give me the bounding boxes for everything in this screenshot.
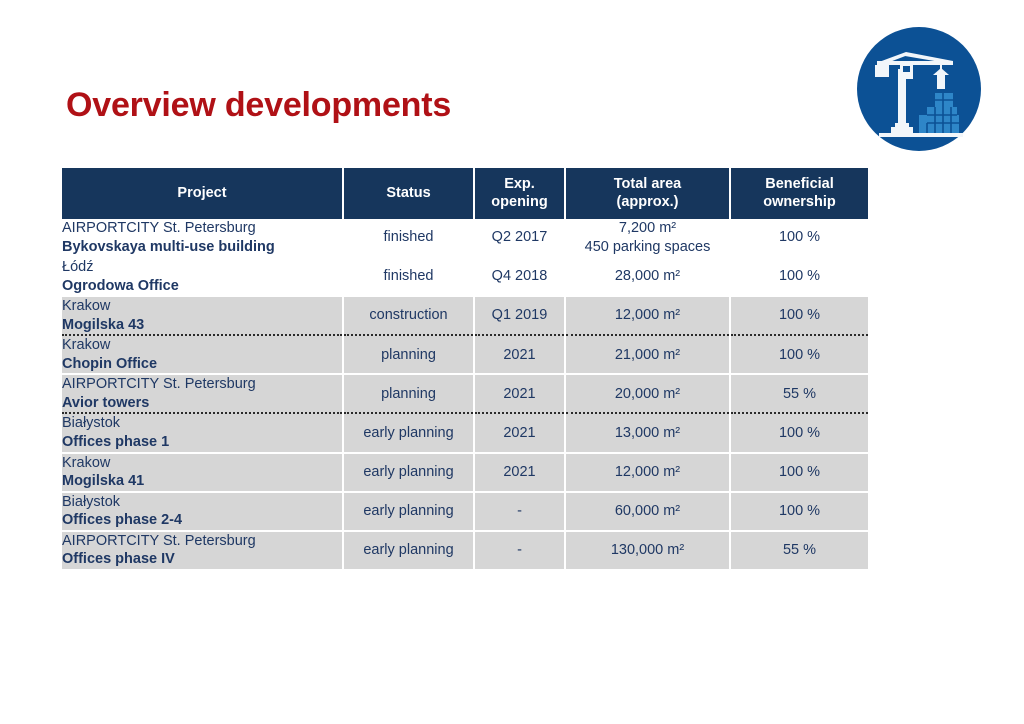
table-row[interactable]: KrakowMogilska 41early planning202112,00…: [62, 453, 868, 492]
table-row[interactable]: BiałystokOffices phase 1early planning20…: [62, 413, 868, 452]
cell-project: KrakowChopin Office: [62, 335, 343, 374]
cell-beneficial-ownership: 100 %: [730, 453, 868, 492]
cell-beneficial-ownership: 100 %: [730, 335, 868, 374]
cell-total-area: 130,000 m²: [565, 531, 730, 569]
column-header-total-area-line2: (approx.): [616, 194, 678, 210]
project-location: Białystok: [62, 414, 342, 433]
developments-table: Project Status Exp. opening Total area (…: [62, 168, 868, 569]
project-name: Offices phase 1: [62, 433, 342, 452]
column-header-exp-opening[interactable]: Exp. opening: [474, 168, 565, 219]
cell-status: finished: [343, 257, 474, 296]
table-row[interactable]: AIRPORTCITY St. PetersburgOffices phase …: [62, 531, 868, 569]
cell-project: KrakowMogilska 43: [62, 296, 343, 335]
cell-exp-opening: -: [474, 492, 565, 531]
cell-project: AIRPORTCITY St. PetersburgBykovskaya mul…: [62, 219, 343, 257]
project-name: Mogilska 41: [62, 472, 342, 491]
project-name: Mogilska 43: [62, 316, 342, 335]
cell-status: construction: [343, 296, 474, 335]
page-title: Overview developments: [66, 86, 451, 125]
cell-project: KrakowMogilska 41: [62, 453, 343, 492]
cell-beneficial-ownership: 100 %: [730, 413, 868, 452]
table-row[interactable]: KrakowMogilska 43constructionQ1 201912,0…: [62, 296, 868, 335]
cell-exp-opening: 2021: [474, 453, 565, 492]
column-header-beneficial-ownership-line2: ownership: [763, 194, 836, 210]
project-name: Avior towers: [62, 394, 342, 413]
project-location: Krakow: [62, 454, 342, 473]
cell-total-area: 28,000 m²: [565, 257, 730, 296]
cell-total-area: 13,000 m²: [565, 413, 730, 452]
project-location: AIRPORTCITY St. Petersburg: [62, 375, 342, 394]
total-area-primary: 60,000 m²: [566, 502, 729, 521]
project-name: Offices phase IV: [62, 550, 342, 569]
column-header-beneficial-ownership[interactable]: Beneficial ownership: [730, 168, 868, 219]
table-row[interactable]: KrakowChopin Officeplanning202121,000 m²…: [62, 335, 868, 374]
crane-icon: [857, 27, 981, 151]
project-location: AIRPORTCITY St. Petersburg: [62, 219, 342, 238]
project-name: Bykovskaya multi-use building: [62, 238, 342, 257]
project-location: Krakow: [62, 297, 342, 316]
construction-crane-logo: [857, 27, 981, 151]
project-location: Krakow: [62, 336, 342, 355]
cell-exp-opening: 2021: [474, 413, 565, 452]
cell-beneficial-ownership: 55 %: [730, 531, 868, 569]
cell-status: early planning: [343, 492, 474, 531]
column-header-total-area-line1: Total area: [614, 176, 681, 192]
cell-total-area: 20,000 m²: [565, 374, 730, 413]
cell-project: AIRPORTCITY St. PetersburgOffices phase …: [62, 531, 343, 569]
cell-status: planning: [343, 335, 474, 374]
project-location: Białystok: [62, 493, 342, 512]
cell-project: AIRPORTCITY St. PetersburgAvior towers: [62, 374, 343, 413]
project-location: Łódź: [62, 258, 342, 277]
cell-total-area: 12,000 m²: [565, 453, 730, 492]
table-row[interactable]: AIRPORTCITY St. PetersburgAvior towerspl…: [62, 374, 868, 413]
project-name: Ogrodowa Office: [62, 277, 342, 296]
cell-beneficial-ownership: 100 %: [730, 492, 868, 531]
cell-exp-opening: Q1 2019: [474, 296, 565, 335]
cell-total-area: 12,000 m²: [565, 296, 730, 335]
total-area-primary: 130,000 m²: [566, 541, 729, 560]
table-header: Project Status Exp. opening Total area (…: [62, 168, 868, 219]
cell-beneficial-ownership: 100 %: [730, 257, 868, 296]
project-location: AIRPORTCITY St. Petersburg: [62, 532, 342, 551]
cell-project: BiałystokOffices phase 1: [62, 413, 343, 452]
project-name: Offices phase 2-4: [62, 511, 342, 530]
total-area-primary: 20,000 m²: [566, 385, 729, 404]
cell-exp-opening: 2021: [474, 335, 565, 374]
table-row[interactable]: BiałystokOffices phase 2-4early planning…: [62, 492, 868, 531]
table-body: AIRPORTCITY St. PetersburgBykovskaya mul…: [62, 219, 868, 569]
total-area-primary: 28,000 m²: [566, 267, 729, 286]
cell-status: planning: [343, 374, 474, 413]
column-header-status[interactable]: Status: [343, 168, 474, 219]
cell-beneficial-ownership: 100 %: [730, 219, 868, 257]
column-header-total-area[interactable]: Total area (approx.): [565, 168, 730, 219]
cell-status: early planning: [343, 453, 474, 492]
table-row[interactable]: AIRPORTCITY St. PetersburgBykovskaya mul…: [62, 219, 868, 257]
column-header-exp-opening-line2: opening: [491, 194, 547, 210]
total-area-primary: 21,000 m²: [566, 346, 729, 365]
cell-exp-opening: -: [474, 531, 565, 569]
cell-beneficial-ownership: 55 %: [730, 374, 868, 413]
cell-status: early planning: [343, 413, 474, 452]
cell-project: ŁódźOgrodowa Office: [62, 257, 343, 296]
total-area-primary: 12,000 m²: [566, 306, 729, 325]
table-row[interactable]: ŁódźOgrodowa OfficefinishedQ4 201828,000…: [62, 257, 868, 296]
cell-exp-opening: Q4 2018: [474, 257, 565, 296]
cell-project: BiałystokOffices phase 2-4: [62, 492, 343, 531]
cell-exp-opening: 2021: [474, 374, 565, 413]
cell-total-area: 7,200 m²450 parking spaces: [565, 219, 730, 257]
total-area-secondary: 450 parking spaces: [566, 238, 729, 257]
cell-status: early planning: [343, 531, 474, 569]
project-name: Chopin Office: [62, 355, 342, 374]
column-header-project[interactable]: Project: [62, 168, 343, 219]
total-area-primary: 7,200 m²: [566, 219, 729, 238]
cell-total-area: 21,000 m²: [565, 335, 730, 374]
cell-total-area: 60,000 m²: [565, 492, 730, 531]
table-header-row: Project Status Exp. opening Total area (…: [62, 168, 868, 219]
column-header-beneficial-ownership-line1: Beneficial: [765, 176, 834, 192]
total-area-primary: 13,000 m²: [566, 424, 729, 443]
cell-exp-opening: Q2 2017: [474, 219, 565, 257]
cell-beneficial-ownership: 100 %: [730, 296, 868, 335]
column-header-exp-opening-line1: Exp.: [504, 176, 535, 192]
cell-status: finished: [343, 219, 474, 257]
total-area-primary: 12,000 m²: [566, 463, 729, 482]
